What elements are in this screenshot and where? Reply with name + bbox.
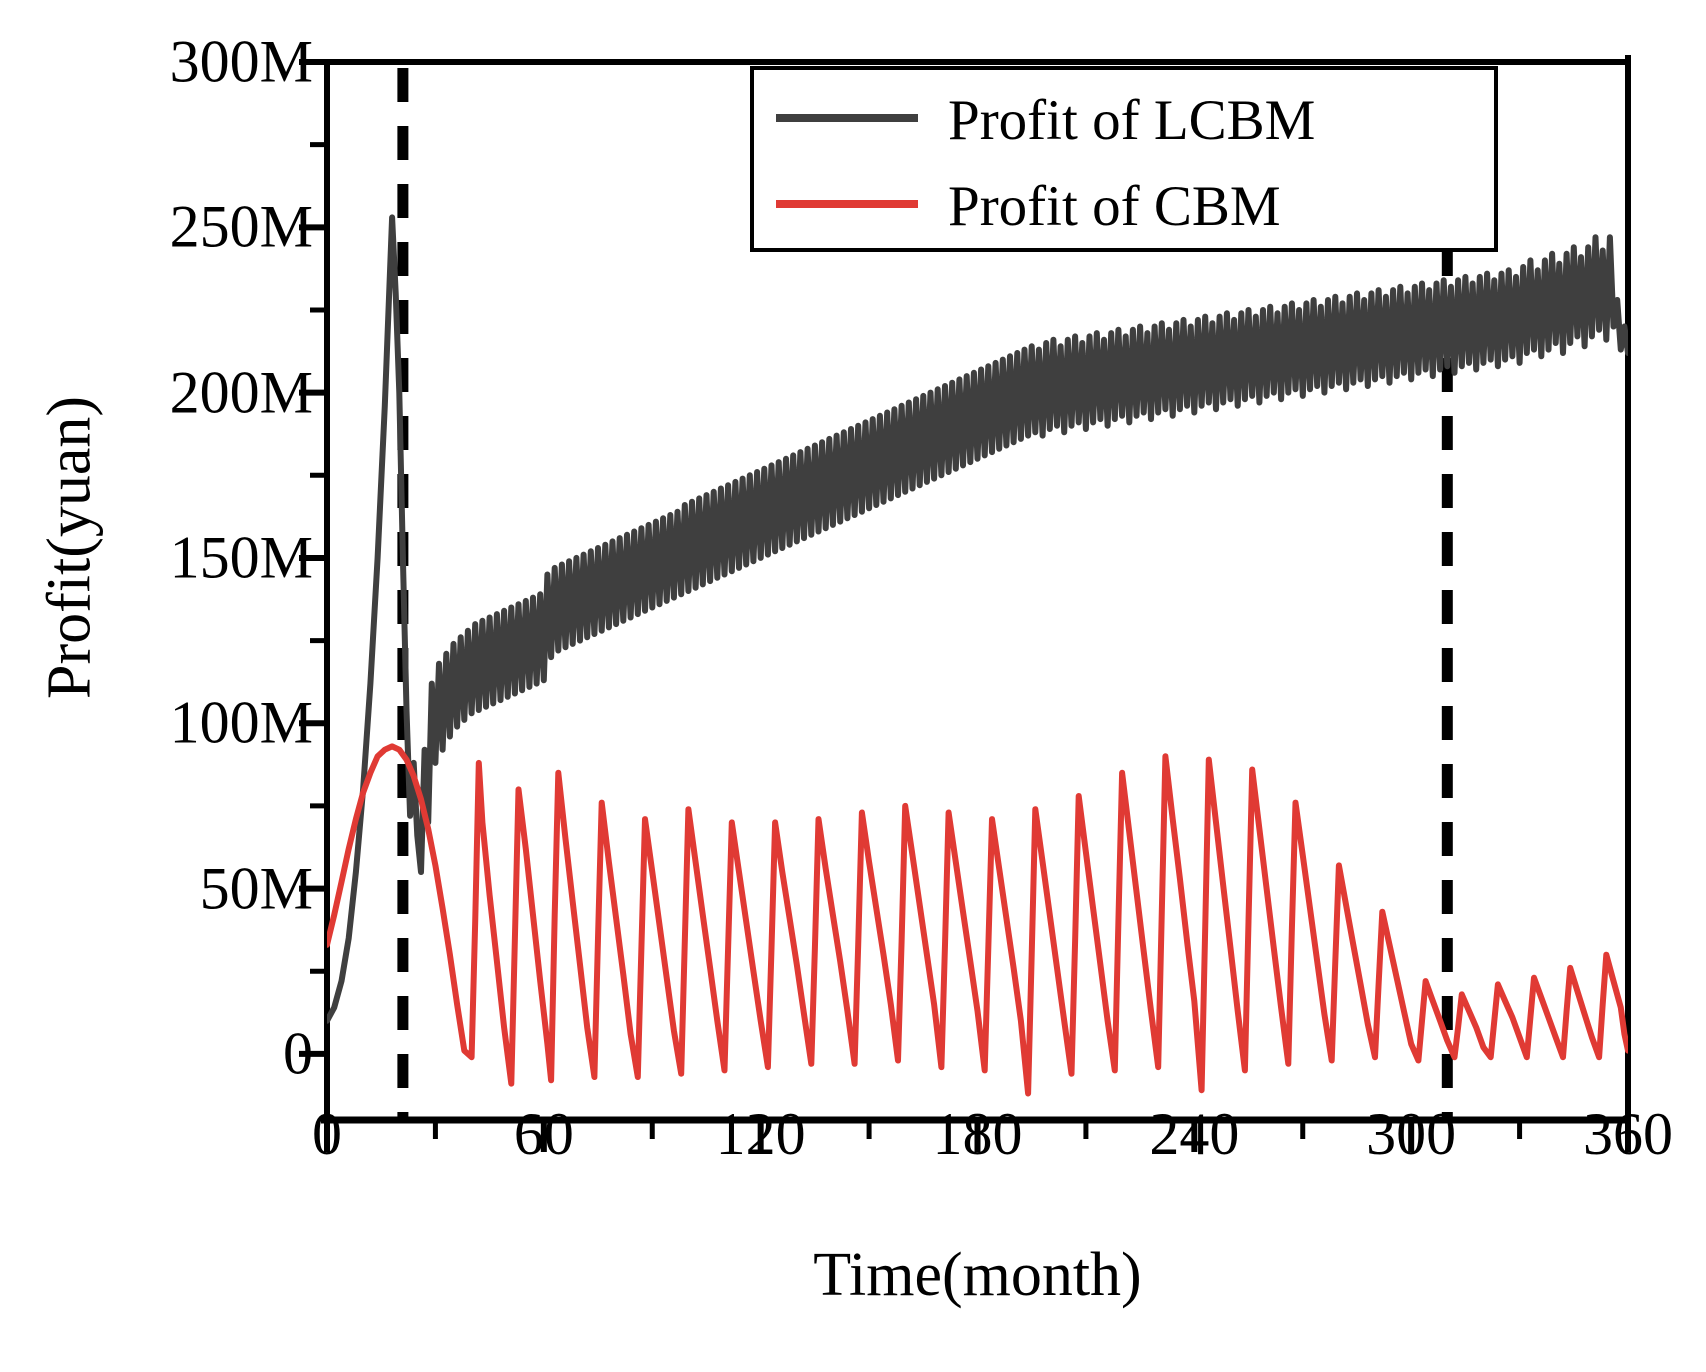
legend-label: Profit of LCBM [948,89,1315,152]
series-line [327,217,1628,1020]
plot-canvas: Profit of LCBMProfit of CBM [0,0,1706,1372]
series-line [327,746,1628,1093]
legend: Profit of LCBMProfit of CBM [752,68,1496,250]
data-series [327,217,1628,1093]
legend-label: Profit of CBM [948,175,1281,238]
chart-figure: Profit(yuan) 050M100M150M200M250M300M 06… [0,0,1706,1372]
